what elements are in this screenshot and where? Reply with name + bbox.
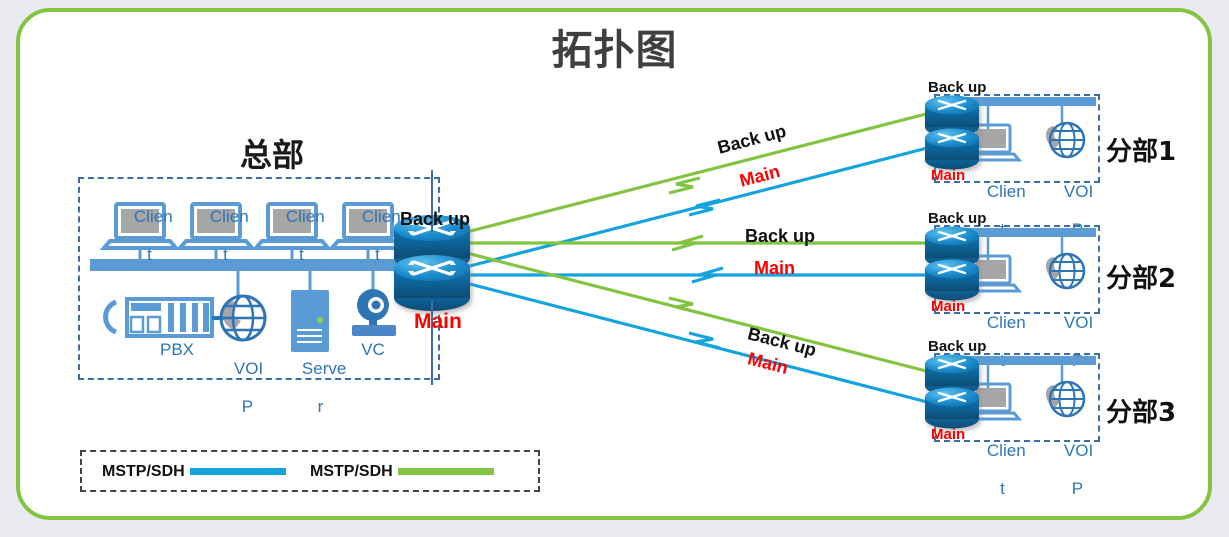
branch-3-voip-label-line2: P (1072, 479, 1083, 498)
legend-swatch-main (190, 468, 286, 475)
legend-swatch-backup (398, 468, 494, 475)
branch-3-router-backup-label: Back up (928, 338, 986, 355)
topology-diagram: 总部 (0, 0, 1229, 537)
branch-3-voip-icon (1046, 382, 1084, 416)
legend-item-1-label: MSTP/SDH (102, 463, 185, 481)
branch-3-voip-label-line1: VOI (1064, 441, 1093, 460)
link-branch2-main-label: Main (754, 258, 795, 279)
branch-3-client-label: Clien t (968, 422, 1018, 517)
branch-3-voip-label: VOI P (1045, 422, 1091, 517)
legend-item-2-label: MSTP/SDH (310, 463, 393, 481)
branch-3-client-label-line1: Clien (987, 441, 1026, 460)
page-title: 拓扑图 (0, 16, 1229, 76)
branch-3-title: 分部3 (1106, 392, 1176, 429)
link-branch2-backup-label: Back up (745, 226, 815, 247)
legend: MSTP/SDH MSTP/SDH (80, 450, 540, 492)
branch-3-client-label-line2: t (1000, 479, 1005, 498)
branch-3-router-main-label: Main (931, 426, 965, 443)
